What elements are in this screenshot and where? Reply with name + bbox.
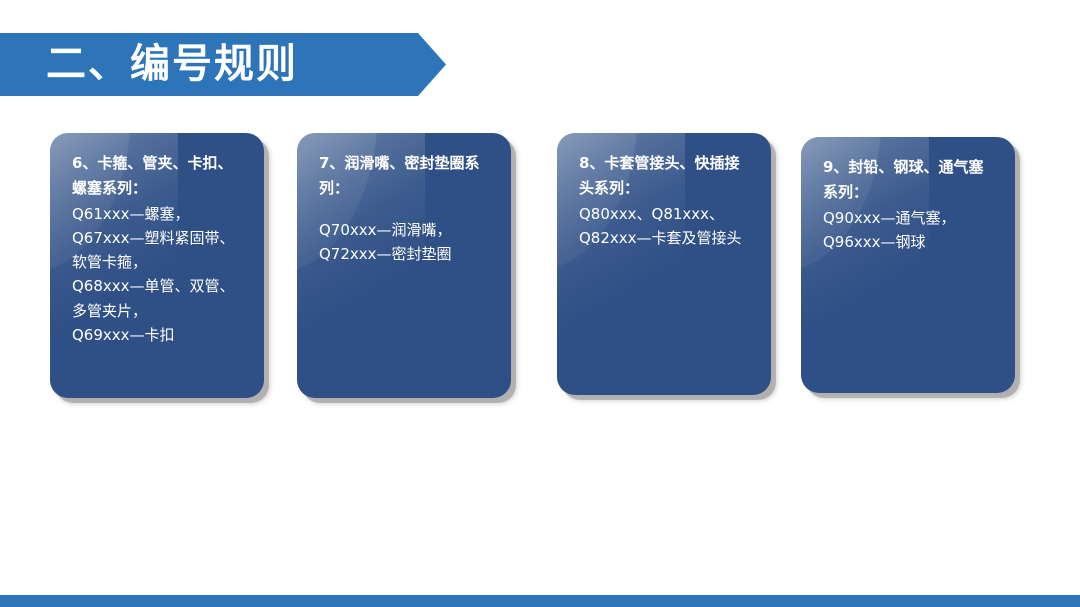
content-card-4: 9、封铅、钢球、通气塞 系列： Q90xxx—通气塞， Q96xxx—钢球 [801, 137, 1015, 393]
content-card-1: 6、卡箍、管夹、卡扣、 螺塞系列： Q61xxx—螺塞， Q67xxx—塑料紧固… [50, 133, 264, 398]
card-3-line-1: Q80xxx、Q81xxx、 [579, 202, 757, 226]
card-4-title: 9、封铅、钢球、通气塞 [823, 155, 1001, 179]
card-1-line-5: 多管夹片， [72, 299, 250, 323]
card-2-title-line2: 列： [319, 176, 497, 200]
card-4-title-line2: 系列： [823, 180, 1001, 204]
card-3-line-2: Q82xxx—卡套及管接头 [579, 226, 757, 250]
card-3-title-line2: 头系列： [579, 176, 757, 200]
page-title: 二、编号规则 [46, 30, 446, 98]
slide-canvas: 二、编号规则 6、卡箍、管夹、卡扣、 螺塞系列： Q61xxx—螺塞， Q67x… [0, 0, 1080, 607]
card-4-body: 9、封铅、钢球、通气塞 系列： Q90xxx—通气塞， Q96xxx—钢球 [823, 155, 1001, 254]
card-1-title: 6、卡箍、管夹、卡扣、 [72, 151, 250, 175]
card-4-line-2: Q96xxx—钢球 [823, 230, 1001, 254]
card-2-blank-line [319, 202, 497, 218]
card-2-line-2: Q72xxx—密封垫圈 [319, 242, 497, 266]
card-2-line-1: Q70xxx—润滑嘴， [319, 218, 497, 242]
card-1-line-3: 软管卡箍， [72, 250, 250, 274]
card-3-body: 8、卡套管接头、快插接 头系列： Q80xxx、Q81xxx、 Q82xxx—卡… [579, 151, 757, 250]
footer-bar [0, 595, 1080, 607]
card-1-line-2: Q67xxx—塑料紧固带、 [72, 226, 250, 250]
card-1-body: 6、卡箍、管夹、卡扣、 螺塞系列： Q61xxx—螺塞， Q67xxx—塑料紧固… [72, 151, 250, 347]
card-1-line-6: Q69xxx—卡扣 [72, 323, 250, 347]
content-card-2: 7、润滑嘴、密封垫圈系 列： Q70xxx—润滑嘴， Q72xxx—密封垫圈 [297, 133, 511, 398]
content-card-3: 8、卡套管接头、快插接 头系列： Q80xxx、Q81xxx、 Q82xxx—卡… [557, 133, 771, 395]
card-1-line-4: Q68xxx—单管、双管、 [72, 274, 250, 298]
card-1-line-1: Q61xxx—螺塞， [72, 202, 250, 226]
card-2-body: 7、润滑嘴、密封垫圈系 列： Q70xxx—润滑嘴， Q72xxx—密封垫圈 [319, 151, 497, 266]
card-3-title: 8、卡套管接头、快插接 [579, 151, 757, 175]
card-2-title: 7、润滑嘴、密封垫圈系 [319, 151, 497, 175]
card-4-line-1: Q90xxx—通气塞， [823, 206, 1001, 230]
card-1-title-line2: 螺塞系列： [72, 176, 250, 200]
